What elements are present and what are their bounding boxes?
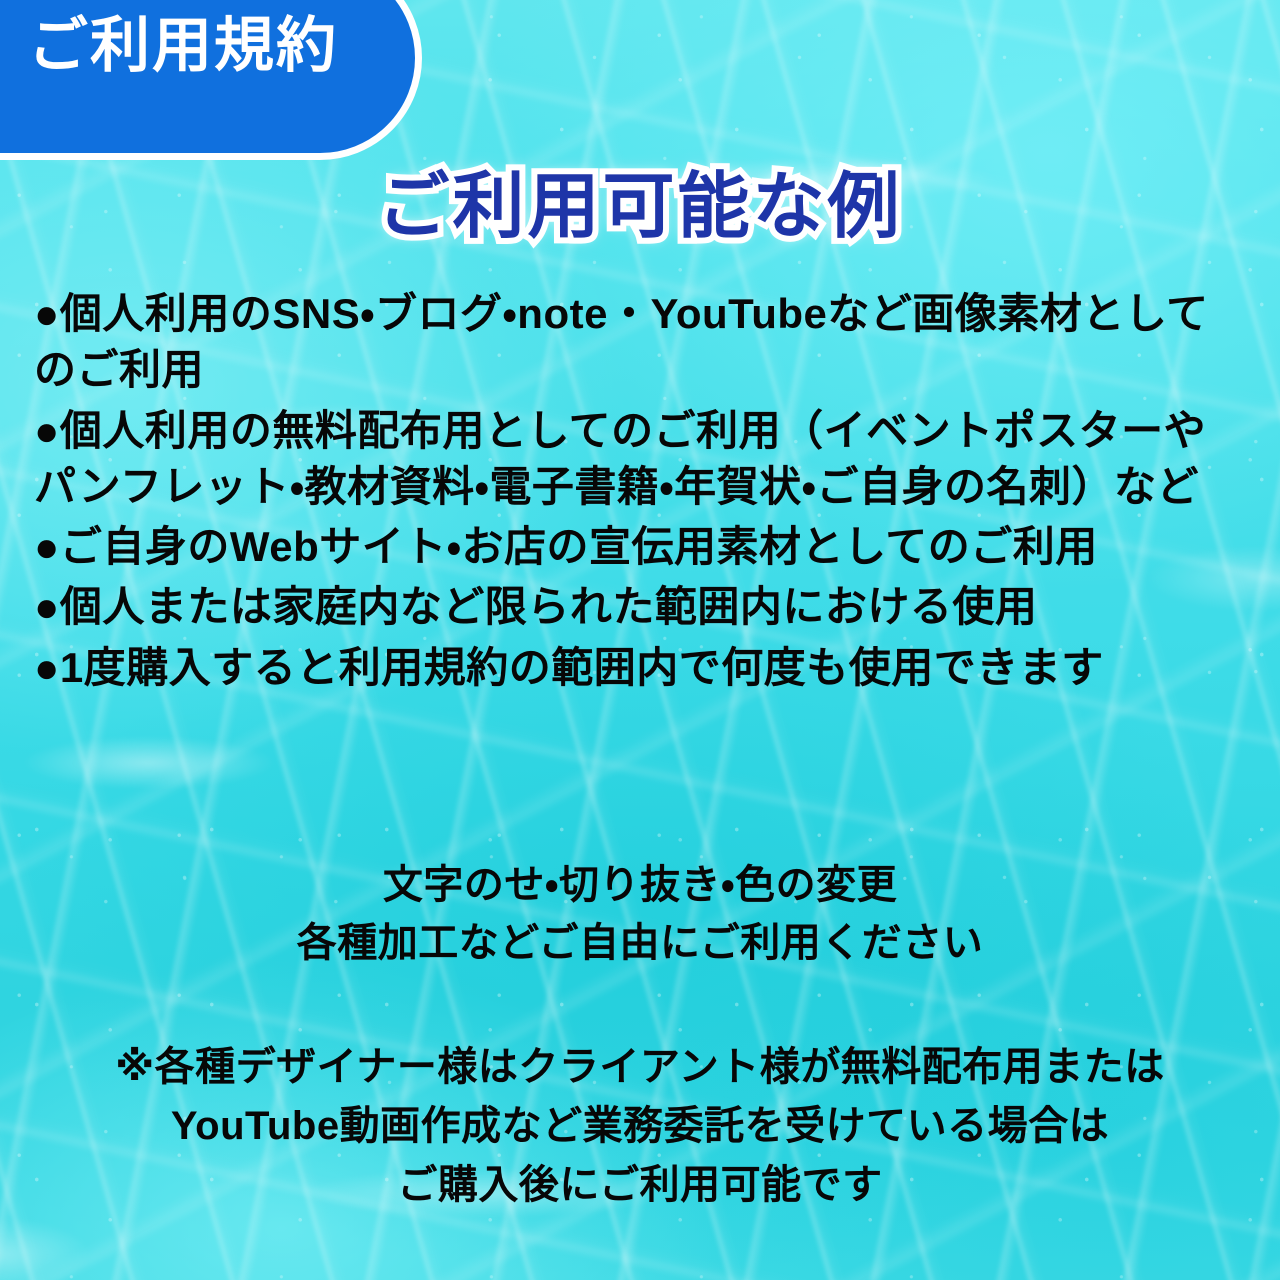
designer-notice-line-3: ご購入後にご利用可能です [0,1156,1280,1215]
list-item: ●個人利用のSNS・ブログ・note・YouTubeなど画像素材としてのご利用 [34,286,1246,399]
list-item: ●個人利用の無料配布用としてのご利用（イベントポスターやパンフレット・教材資料・… [34,403,1246,516]
terms-of-use-graphic: ご利用規約 ご利用可能な例 ●個人利用のSNS・ブログ・note・YouTube… [0,0,1280,1280]
editing-freedom-line-2: 各種加工などご自由にご利用ください [0,914,1280,972]
terms-badge: ご利用規約 [0,0,422,160]
allowed-usage-list: ●個人利用のSNS・ブログ・note・YouTubeなど画像素材としてのご利用 … [34,286,1246,700]
list-item: ●個人または家庭内など限られた範囲内における使用 [34,579,1246,635]
designer-notice: ※各種デザイナー様はクライアント様が無料配布用または YouTube動画作成など… [0,1038,1280,1216]
editing-freedom-line-1: 文字のせ・切り抜き・色の変更 [0,856,1280,914]
designer-notice-line-1: ※各種デザイナー様はクライアント様が無料配布用または [0,1038,1280,1097]
list-item: ●ご自身のWebサイト・お店の宣伝用素材としてのご利用 [34,519,1246,575]
list-item: ●1度購入すると利用規約の範囲内で何度も使用できます [34,640,1246,696]
designer-notice-line-2: YouTube動画作成など業務委託を受けている場合は [0,1097,1280,1156]
editing-freedom-note: 文字のせ・切り抜き・色の変更 各種加工などご自由にご利用ください [0,856,1280,972]
page-title: ご利用可能な例 [0,168,1280,247]
terms-badge-label: ご利用規約 [28,16,338,76]
